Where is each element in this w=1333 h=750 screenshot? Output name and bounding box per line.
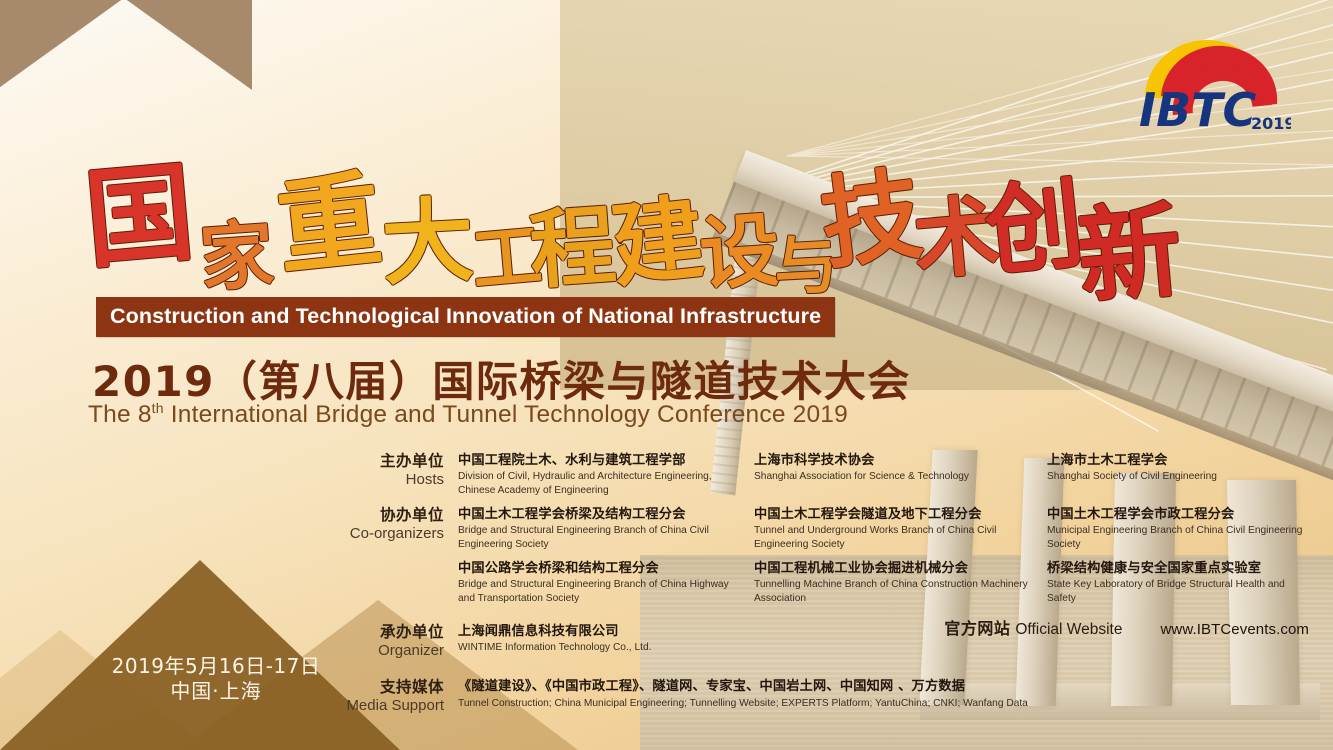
org-entry: 中国工程院土木、水利与建筑工程学部 Division of Civil, Hyd…: [458, 452, 754, 497]
english-banner: Construction and Technological Innovatio…: [96, 297, 835, 337]
org-name-en: Shanghai Association for Science & Techn…: [754, 470, 1033, 483]
official-website: 官方网站 Official Website www.IBTCevents.com: [944, 615, 1309, 639]
org-name-en: Shanghai Society of Civil Engineering: [1047, 470, 1313, 483]
org-name-en: WINTIME Information Technology Co., Ltd.: [458, 641, 740, 654]
org-entry: 《隧道建设》、《中国市政工程》、隧道网、专家宝、中国岩土网、中国知网 、万方数据…: [458, 678, 1333, 710]
callig-glyph-7: 建: [606, 184, 709, 301]
page-title-english: The 8th International Bridge and Tunnel …: [88, 400, 848, 429]
org-label-media-support: 支持媒体 Media Support: [330, 678, 458, 715]
org-entry: 中国土木工程学会隧道及地下工程分会 Tunnel and Underground…: [754, 506, 1047, 551]
org-label-coorganizers: 协办单位 Co-organizers: [330, 506, 458, 543]
org-name-en: Bridge and Structural Engineering Branch…: [458, 524, 740, 551]
org-label-hosts: 主办单位 Hosts: [330, 452, 458, 489]
org-entry: 桥梁结构健康与安全国家重点实验室 State Key Laboratory of…: [1047, 560, 1327, 605]
org-name-cn: 桥梁结构健康与安全国家重点实验室: [1047, 560, 1313, 577]
org-name-cn: 上海市土木工程学会: [1047, 452, 1313, 469]
website-label-en: Official Website: [1015, 621, 1122, 639]
org-name-cn: 中国工程机械工业协会掘进机械分会: [754, 560, 1033, 577]
org-row-coorganizers-continued: 中国公路学会桥梁和结构工程分会 Bridge and Structural En…: [330, 560, 1330, 605]
org-label-cn: 支持媒体: [330, 678, 444, 697]
banner-text: Construction and Technological Innovatio…: [110, 304, 821, 329]
org-row-media-support: 支持媒体 Media Support 《隧道建设》、《中国市政工程》、隧道网、专…: [330, 678, 1330, 715]
org-entry: 中国土木工程学会市政工程分会 Municipal Engineering Bra…: [1047, 506, 1327, 551]
org-entry: 中国工程机械工业协会掘进机械分会 Tunnelling Machine Bran…: [754, 560, 1047, 605]
ibtc-logo: IBTC 2019: [1131, 24, 1291, 136]
callig-glyph-2: 家: [197, 212, 277, 303]
conference-poster: IBTC 2019 国 家 重 大 工 程 建 设 与 技 术 创 新 Cons…: [0, 0, 1333, 750]
org-entry: 上海市科学技术协会 Shanghai Association for Scien…: [754, 452, 1047, 497]
org-columns: 中国土木工程学会桥梁及结构工程分会 Bridge and Structural …: [458, 506, 1330, 551]
org-name-cn: 中国土木工程学会桥梁及结构工程分会: [458, 506, 740, 523]
org-entry: 中国土木工程学会桥梁及结构工程分会 Bridge and Structural …: [458, 506, 754, 551]
org-name-en: State Key Laboratory of Bridge Structura…: [1047, 578, 1313, 605]
org-name-en: Bridge and Structural Engineering Branch…: [458, 578, 740, 605]
calligraphy-headline: 国 家 重 大 工 程 建 设 与 技 术 创 新: [82, 142, 982, 310]
org-name-en: Municipal Engineering Branch of China Ci…: [1047, 524, 1313, 551]
org-label-cn: 协办单位: [330, 506, 444, 525]
org-label-organizer: 承办单位 Organizer: [330, 623, 458, 660]
org-label-en: Co-organizers: [330, 525, 444, 543]
title-en-post: International Bridge and Tunnel Technolo…: [164, 401, 848, 428]
org-entry: 中国公路学会桥梁和结构工程分会 Bridge and Structural En…: [458, 560, 754, 605]
org-label-en: Organizer: [330, 642, 444, 660]
callig-glyph-4: 大: [379, 186, 477, 299]
callig-glyph-1: 国: [80, 149, 199, 284]
org-label-en: Media Support: [330, 697, 444, 715]
org-name-en: Tunnel and Underground Works Branch of C…: [754, 524, 1033, 551]
org-columns: 中国工程院土木、水利与建筑工程学部 Division of Civil, Hyd…: [458, 452, 1330, 497]
org-name-en: Division of Civil, Hydraulic and Archite…: [458, 470, 740, 497]
org-columns: 中国公路学会桥梁和结构工程分会 Bridge and Structural En…: [458, 560, 1330, 605]
org-label-cn: 承办单位: [330, 623, 444, 642]
event-date-location: 2019年5月16日-17日 中国·上海: [98, 654, 334, 704]
event-location: 中国·上海: [98, 679, 334, 704]
org-name-cn: 中国土木工程学会市政工程分会: [1047, 506, 1313, 523]
org-label-en: Hosts: [330, 471, 444, 489]
org-entry: 上海市土木工程学会 Shanghai Society of Civil Engi…: [1047, 452, 1327, 497]
media-list-en: Tunnel Construction; China Municipal Eng…: [458, 697, 1333, 710]
website-url[interactable]: www.IBTCevents.com: [1160, 621, 1309, 638]
website-label-cn: 官方网站: [944, 615, 1010, 639]
org-row-coorganizers: 协办单位 Co-organizers 中国土木工程学会桥梁及结构工程分会 Bri…: [330, 506, 1330, 551]
callig-glyph-13: 新: [1072, 188, 1186, 320]
callig-glyph-6: 程: [526, 195, 619, 302]
organizations-block: 主办单位 Hosts 中国工程院土木、水利与建筑工程学部 Division of…: [330, 452, 1330, 725]
callig-glyph-8: 设: [697, 202, 783, 301]
org-entry: 上海闻鼎信息科技有限公司 WINTIME Information Technol…: [458, 623, 754, 655]
org-label-cn: 主办单位: [330, 452, 444, 471]
org-name-cn: 上海市科学技术协会: [754, 452, 1033, 469]
org-name-cn: 中国公路学会桥梁和结构工程分会: [458, 560, 740, 577]
org-name-cn: 上海闻鼎信息科技有限公司: [458, 623, 740, 640]
callig-glyph-12: 创: [980, 166, 1089, 291]
title-en-pre: The 8: [88, 401, 152, 428]
event-date: 2019年5月16日-17日: [98, 654, 334, 679]
org-columns: 《隧道建设》、《中国市政工程》、隧道网、专家宝、中国岩土网、中国知网 、万方数据…: [458, 678, 1333, 710]
title-en-ordinal: th: [152, 400, 164, 416]
decorative-triangle-top-left: [0, 0, 252, 90]
svg-text:2019: 2019: [1251, 114, 1291, 133]
org-name-cn: 中国土木工程学会隧道及地下工程分会: [754, 506, 1033, 523]
org-row-hosts: 主办单位 Hosts 中国工程院土木、水利与建筑工程学部 Division of…: [330, 452, 1330, 497]
svg-text:IBTC: IBTC: [1139, 83, 1257, 136]
media-list-cn: 《隧道建设》、《中国市政工程》、隧道网、专家宝、中国岩土网、中国知网 、万方数据: [458, 678, 1333, 695]
org-name-en: Tunnelling Machine Branch of China Const…: [754, 578, 1033, 605]
org-name-cn: 中国工程院土木、水利与建筑工程学部: [458, 452, 740, 469]
callig-glyph-3: 重: [271, 157, 387, 290]
